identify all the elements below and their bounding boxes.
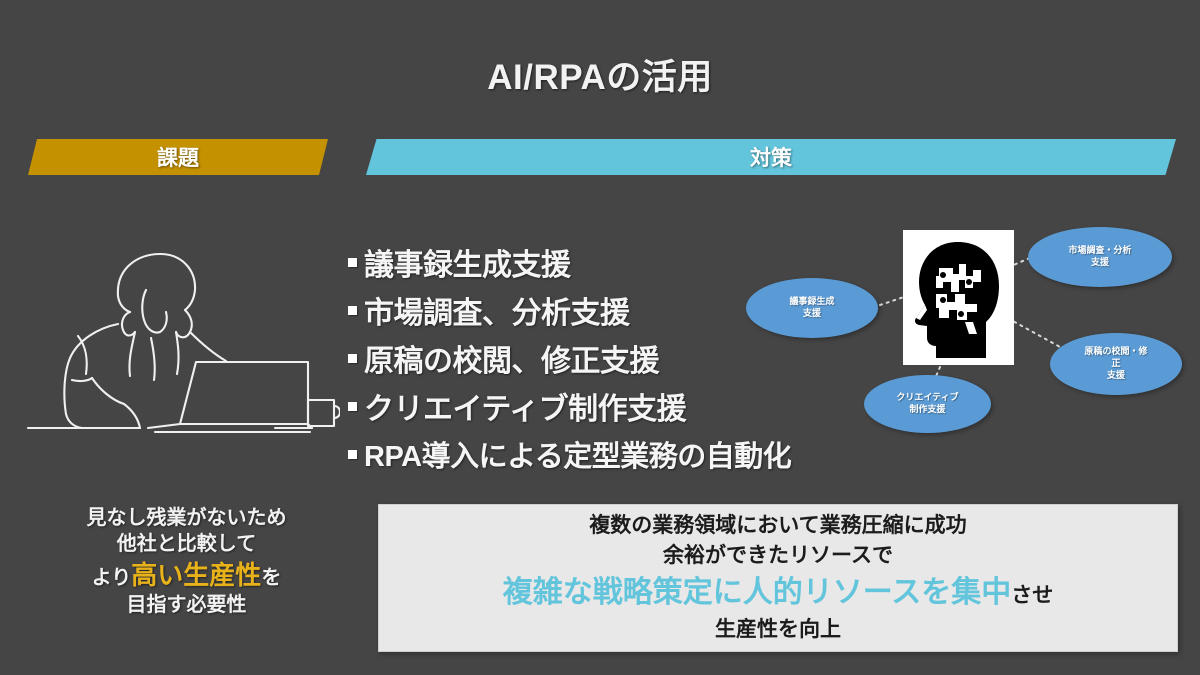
result-line-3: 複雑な戦略策定に人的リソースを集中させ [503,571,1054,615]
diagram-node-minutes-label: 議事録生成支援 [789,296,834,320]
list-item-label: クリエイティブ制作支援 [364,384,686,428]
diagram-node-creative: クリエイティブ制作支援 [864,375,991,433]
result-line-4: 生産性を向上 [715,615,841,645]
diagram-node-proofreading: 原稿の校閲・修正支援 [1050,333,1182,395]
diagram-node-market: 市場調査・分析支援 [1028,227,1172,287]
issue-caption-highlight: 高い生産性 [131,560,261,590]
square-bullet-icon [348,306,357,315]
ai-capability-diagram: 議事録生成支援 市場調査・分析支援 原稿の校閲・修正支援 クリエイティブ制作支援 [740,215,1190,440]
diagram-node-market-label: 市場調査・分析支援 [1068,245,1131,269]
ai-brain-head-icon [903,230,1014,365]
issue-caption-prefix: より [92,567,132,589]
list-item-label: RPA導入による定型業務の自動化 [364,433,791,475]
diagram-node-proofreading-label: 原稿の校閲・修正支援 [1084,346,1147,382]
diagram-node-creative-label: クリエイティブ制作支援 [896,392,958,416]
banner-issue: 課題 [28,139,328,175]
issue-caption-suffix: を [261,567,281,589]
result-line-1: 複数の業務領域において業務圧縮に成功 [589,511,966,541]
issue-caption: 見なし残業がないため 他社と比較して より高い生産性を 目指す必要性 [14,505,359,618]
list-item-label: 市場調査、分析支援 [364,288,630,332]
square-bullet-icon [348,402,357,411]
result-suffix: させ [1011,584,1053,607]
banner-measure: 対策 [366,139,1176,175]
square-bullet-icon [348,258,357,267]
stressed-worker-illustration [20,228,340,460]
square-bullet-icon [348,450,357,459]
result-panel: 複数の業務領域において業務圧縮に成功 余裕ができたリソースで 複雑な戦略策定に人… [378,504,1178,652]
page-title: AI/RPAの活用 [0,49,1200,100]
result-line-2: 余裕ができたリソースで [663,541,893,571]
diagram-node-minutes: 議事録生成支援 [746,278,878,338]
banner-measure-label: 対策 [750,142,792,172]
list-item-label: 議事録生成支援 [364,240,571,284]
banner-issue-label: 課題 [157,142,199,172]
list-item-label: 原稿の校閲、修正支援 [364,336,659,380]
issue-caption-line-4: 目指す必要性 [14,592,359,618]
issue-caption-line-3: より高い生産性を [14,558,359,592]
result-highlight: 複雑な戦略策定に人的リソースを集中 [503,576,1012,609]
square-bullet-icon [348,354,357,363]
issue-caption-line-1: 見なし残業がないため [14,505,359,531]
issue-caption-line-2: 他社と比較して [14,531,359,557]
